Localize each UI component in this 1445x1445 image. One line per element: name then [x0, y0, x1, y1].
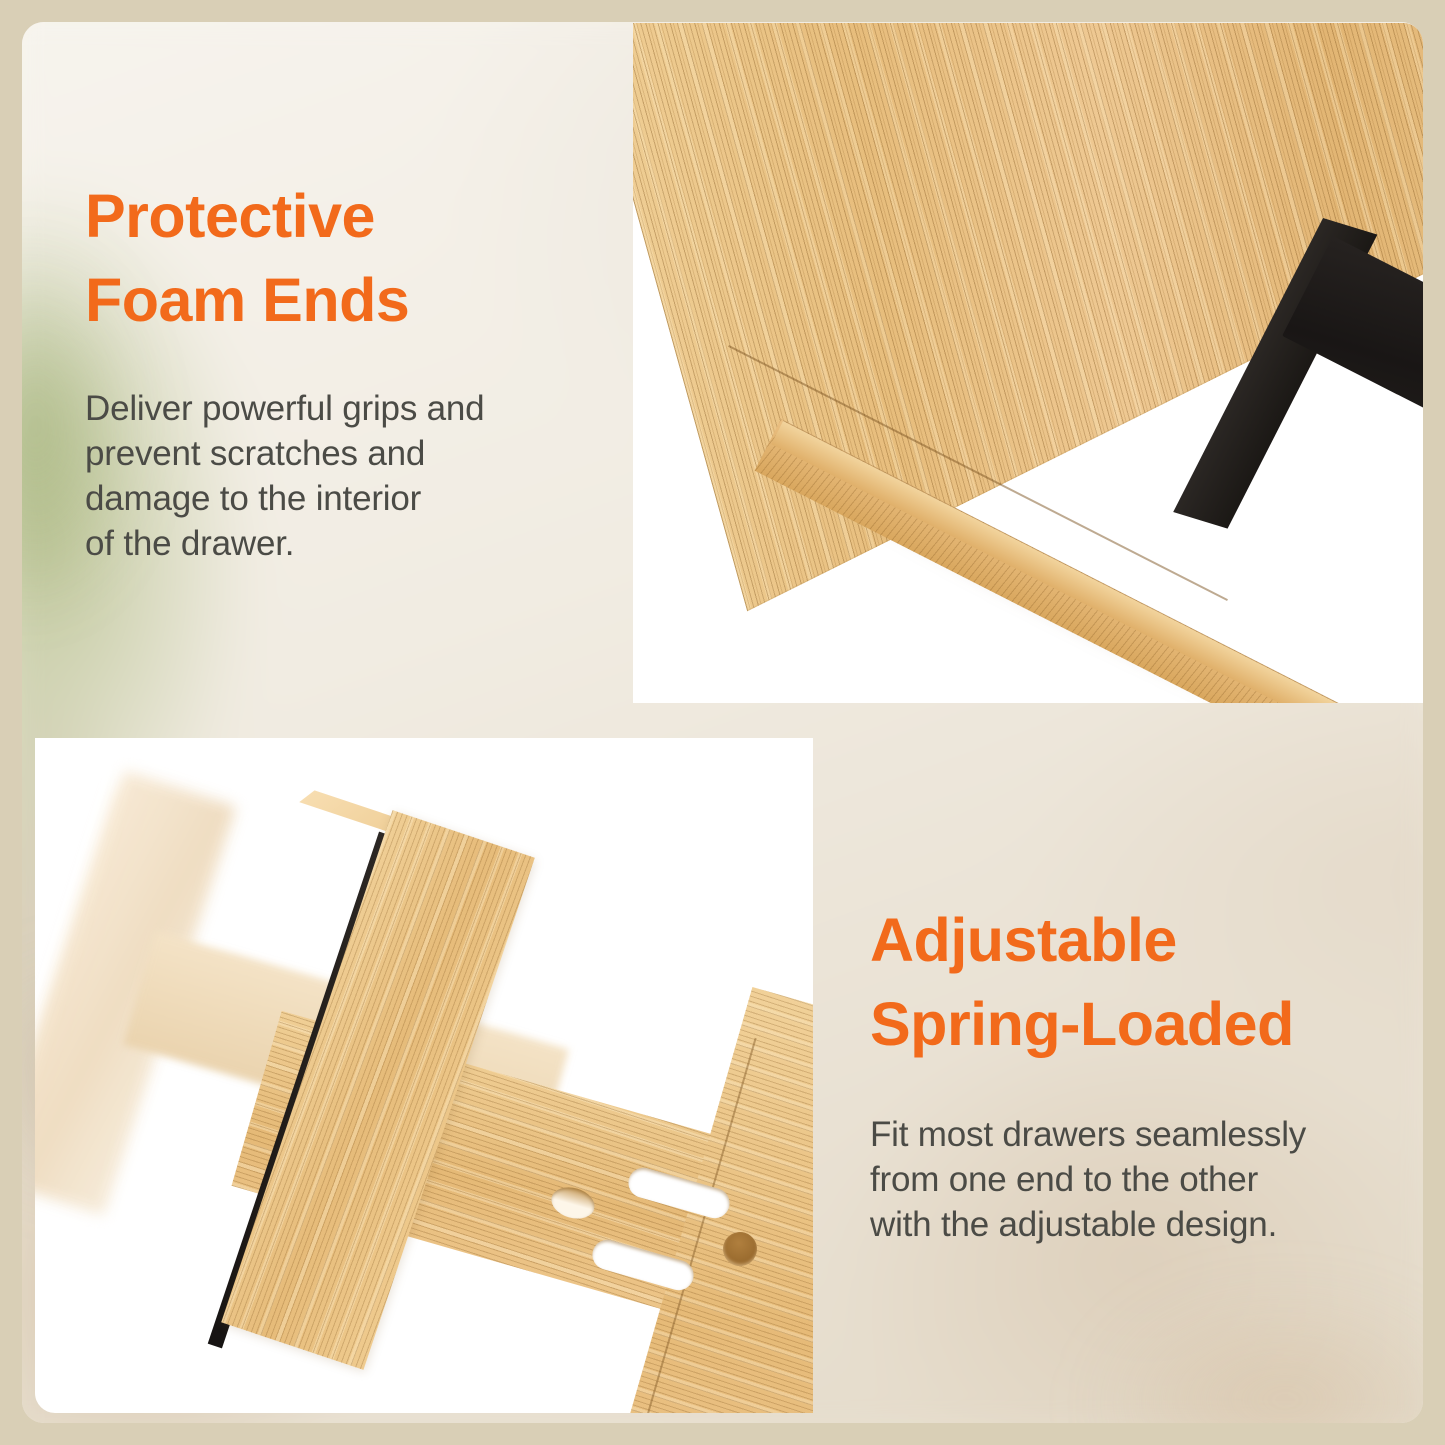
photo-clip-top	[633, 23, 1423, 703]
poster-inner-frame: Protective Foam Ends Deliver powerful gr…	[22, 22, 1423, 1423]
product-feature-poster: Protective Foam Ends Deliver powerful gr…	[0, 0, 1445, 1445]
feature-1-body: Deliver powerful grips and prevent scrat…	[85, 386, 484, 566]
adjustable-mechanism-photo	[35, 738, 813, 1413]
feature-2-body: Fit most drawers seamlessly from one end…	[870, 1112, 1306, 1247]
feature-2-heading: Adjustable Spring-Loaded	[870, 898, 1294, 1066]
photo-clip-bottom	[35, 738, 813, 1413]
foam-end-closeup-photo	[633, 23, 1423, 703]
feature-1-heading: Protective Foam Ends	[85, 174, 409, 342]
